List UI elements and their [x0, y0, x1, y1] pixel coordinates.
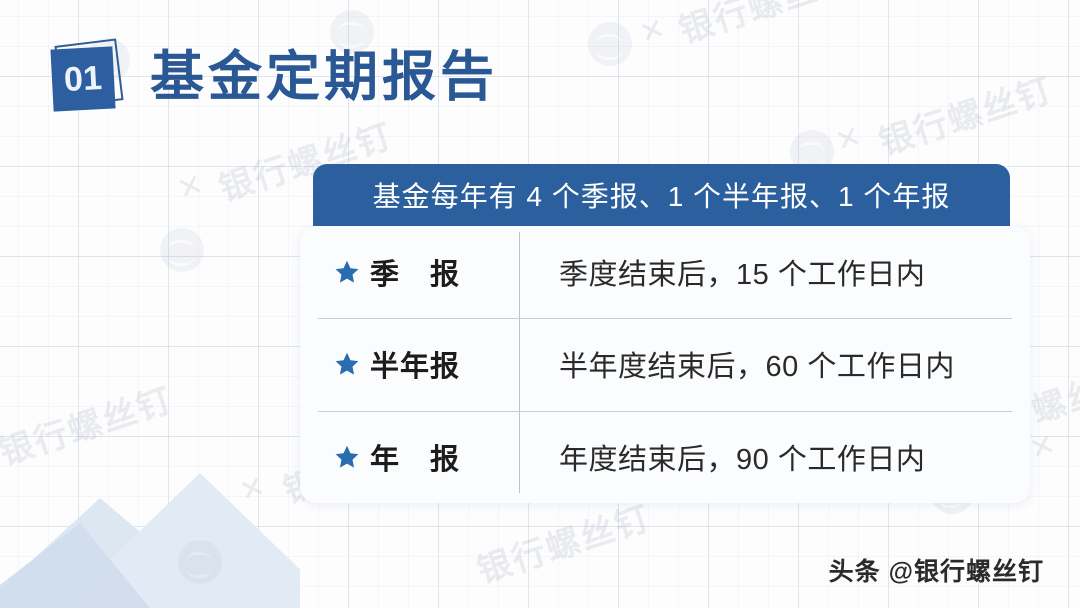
star-icon: [334, 444, 360, 470]
badge-filled-square: 01: [50, 46, 115, 111]
page-title: 基金定期报告: [150, 50, 498, 104]
row-label-cell: 季 报: [300, 251, 519, 293]
badge-number: 01: [63, 59, 103, 100]
table-row: 半年报 半年度结束后，60 个工作日内: [300, 318, 1030, 410]
card-banner-text: 基金每年有 4 个季报、1 个半年报、1 个年报: [373, 175, 951, 215]
table-row: 年 报 年度结束后，90 个工作日内: [300, 411, 1030, 503]
section-number-badge: 01: [52, 40, 126, 114]
report-schedule-card: 季 报 季度结束后，15 个工作日内 半年报 半年度结束后，60 个工作日内 年…: [300, 226, 1030, 503]
card-banner: 基金每年有 4 个季报、1 个半年报、1 个年报: [313, 164, 1010, 226]
report-deadline-value: 半年度结束后，60 个工作日内: [519, 343, 1030, 385]
report-type-label: 年 报: [370, 436, 460, 478]
report-deadline-value: 年度结束后，90 个工作日内: [519, 436, 1030, 478]
report-deadline-value: 季度结束后，15 个工作日内: [519, 251, 1030, 293]
row-label-cell: 半年报: [300, 343, 519, 385]
table-row: 季 报 季度结束后，15 个工作日内: [300, 226, 1030, 318]
star-icon: [334, 351, 360, 377]
footer-credit: 头条 @银行螺丝钉: [829, 552, 1044, 588]
page-header: 01 基金定期报告: [52, 40, 498, 114]
report-type-label: 季 报: [370, 251, 460, 293]
report-type-label: 半年报: [370, 343, 460, 385]
decorative-mountains: [0, 378, 300, 608]
star-icon: [334, 259, 360, 285]
row-label-cell: 年 报: [300, 436, 519, 478]
